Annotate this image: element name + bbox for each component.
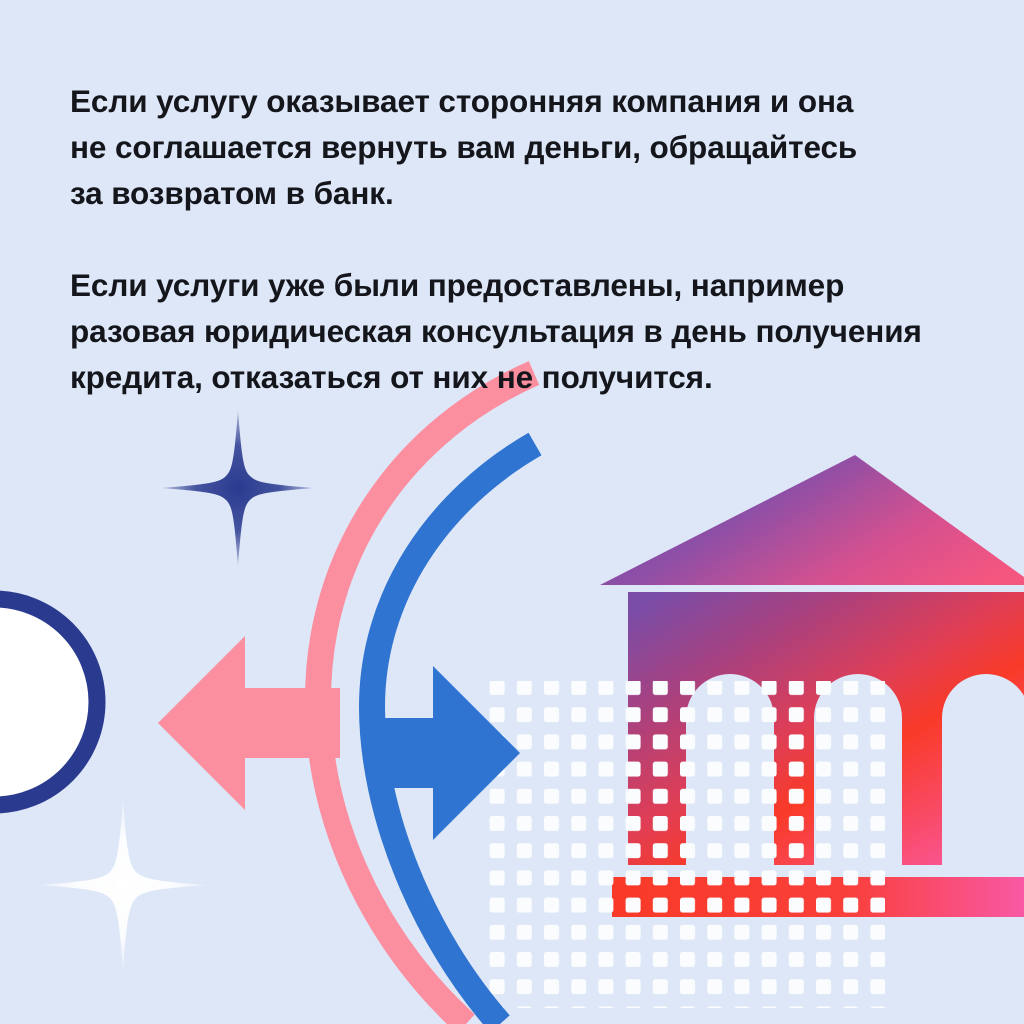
dot-grid [479,681,885,1008]
paragraph-2: Если услуги уже были предоставлены, напр… [70,262,950,400]
slide-canvas: Если услугу оказывает сторонняя компания… [0,0,1024,1024]
text-block: Если услугу оказывает сторонняя компания… [70,78,950,400]
paragraph-1: Если услугу оказывает сторонняя компания… [70,78,950,216]
